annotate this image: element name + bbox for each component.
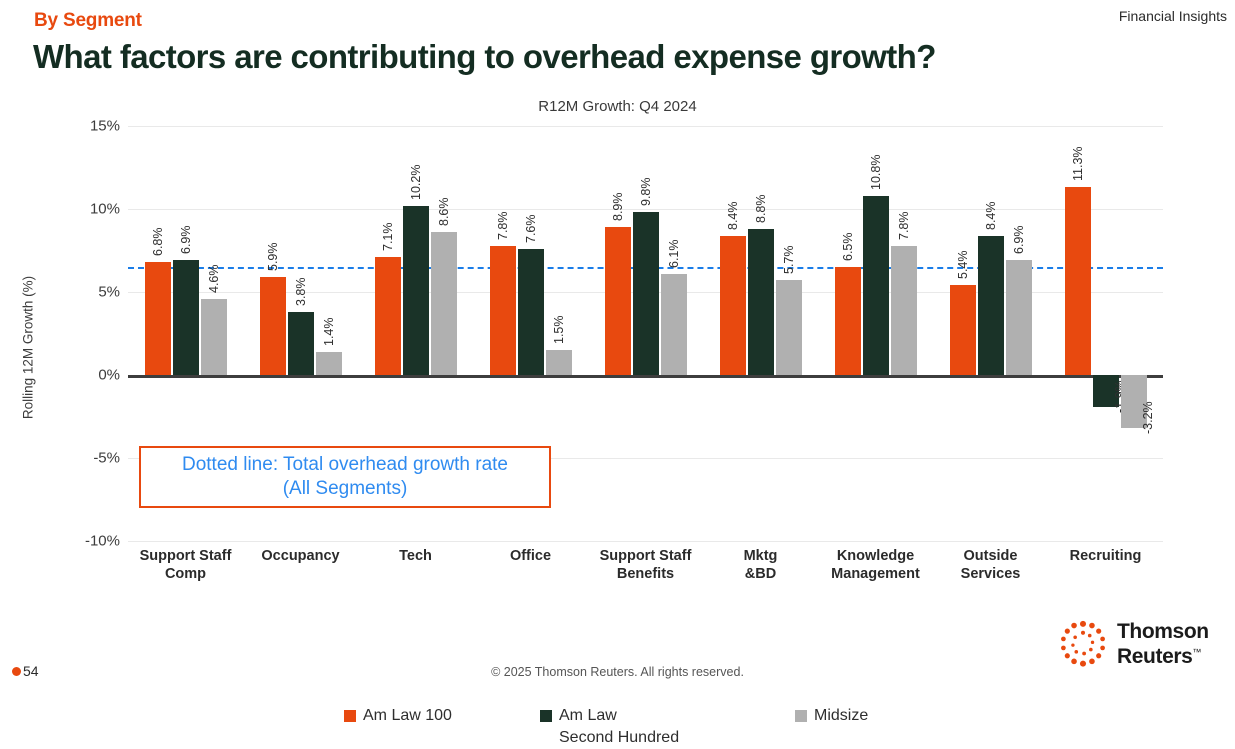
- bar[interactable]: [1006, 260, 1032, 375]
- x-category-label: KnowledgeManagement: [818, 547, 933, 583]
- copyright-text: © 2025 Thomson Reuters. All rights reser…: [0, 665, 1235, 679]
- x-category-line-1: Support Staff: [600, 548, 692, 564]
- bar-value-label: 5.4%: [956, 251, 970, 280]
- x-category-label: OutsideServices: [933, 547, 1048, 583]
- x-category-label: Support StaffComp: [128, 547, 243, 583]
- bar[interactable]: [950, 285, 976, 375]
- page-title: What factors are contributing to overhea…: [33, 38, 936, 76]
- bar-value-label: 9.8%: [639, 178, 653, 207]
- x-category-label: Tech: [358, 547, 473, 565]
- bar-value-label: 11.3%: [1071, 147, 1085, 182]
- brand-tag: Financial Insights: [1119, 8, 1227, 24]
- logo-line-2: Reuters: [1117, 645, 1192, 668]
- bar[interactable]: [661, 274, 687, 375]
- bar-value-label: 5.9%: [266, 243, 280, 272]
- bar-value-label: 6.8%: [151, 228, 165, 257]
- bar-value-label: 1.4%: [322, 317, 336, 346]
- bar-value-label: 8.6%: [437, 198, 451, 227]
- bar[interactable]: [891, 246, 917, 375]
- bar[interactable]: [835, 267, 861, 375]
- bar-value-label: 8.4%: [984, 201, 998, 230]
- bar-value-label: 10.8%: [869, 154, 883, 189]
- legend-item[interactable]: Am Law 100: [344, 705, 452, 727]
- bar-value-label: 6.9%: [179, 226, 193, 255]
- bar[interactable]: [863, 196, 889, 375]
- y-tick-label: -5%: [30, 450, 120, 467]
- thomson-reuters-wordmark: Thomson Reuters™: [1117, 621, 1209, 667]
- callout-line-1: Dotted line: Total overhead growth rate: [182, 454, 508, 475]
- bar[interactable]: [633, 212, 659, 375]
- legend-label: Am LawSecond Hundred: [559, 705, 679, 749]
- bar[interactable]: [145, 262, 171, 375]
- legend-label: Am Law 100: [363, 705, 452, 727]
- x-category-line-2: &BD: [745, 566, 776, 582]
- bar-value-label: 8.9%: [611, 193, 625, 222]
- bar-value-label: 8.4%: [726, 201, 740, 230]
- x-category-line-2: Benefits: [617, 566, 674, 582]
- bar-value-label: 7.6%: [524, 214, 538, 243]
- bar-value-label: 10.2%: [409, 164, 423, 199]
- y-tick-label: -10%: [30, 533, 120, 550]
- bar[interactable]: [748, 229, 774, 375]
- bar-group: 11.3%-1.9%-3.2%: [1048, 126, 1163, 541]
- bar-value-label: 7.8%: [496, 211, 510, 240]
- bar[interactable]: [490, 246, 516, 375]
- bar[interactable]: [978, 236, 1004, 375]
- bar-group: 8.9%9.8%6.1%: [588, 126, 703, 541]
- chart-container: R12M Growth: Q4 2024 Rolling 12M Growth …: [0, 95, 1235, 595]
- bar-group: 5.4%8.4%6.9%: [933, 126, 1048, 541]
- gridline--10%: [128, 541, 1163, 542]
- x-category-line-1: Knowledge: [837, 548, 914, 564]
- x-category-line-2: Management: [831, 566, 920, 582]
- x-category-label: Support StaffBenefits: [588, 547, 703, 583]
- x-category-label: Recruiting: [1048, 547, 1163, 565]
- bar[interactable]: [720, 236, 746, 375]
- bar[interactable]: [776, 280, 802, 375]
- x-category-label: Mktg&BD: [703, 547, 818, 583]
- x-category-label: Occupancy: [243, 547, 358, 565]
- legend-label: Midsize: [814, 705, 868, 727]
- x-category-label: Office: [473, 547, 588, 565]
- bar-value-label: 7.1%: [381, 223, 395, 252]
- bar-value-label: 6.1%: [667, 239, 681, 268]
- chart-subtitle: R12M Growth: Q4 2024: [0, 98, 1235, 115]
- thomson-reuters-logo: Thomson Reuters™: [1055, 616, 1209, 672]
- x-category-line-1: Support Staff: [140, 548, 232, 564]
- bar-value-label: 4.6%: [207, 264, 221, 293]
- x-category-line-1: Recruiting: [1070, 548, 1142, 564]
- legend-swatch-icon: [540, 710, 552, 722]
- legend-swatch-icon: [795, 710, 807, 722]
- callout-line-2: (All Segments): [283, 478, 408, 499]
- bar-value-label: 6.5%: [841, 233, 855, 262]
- bar[interactable]: [375, 257, 401, 375]
- bar[interactable]: [431, 232, 457, 375]
- bar[interactable]: [316, 352, 342, 375]
- logo-line-1: Thomson: [1117, 620, 1209, 643]
- thomson-reuters-dots-icon: [1055, 616, 1111, 672]
- bar[interactable]: [288, 312, 314, 375]
- bar-value-label: 3.8%: [294, 277, 308, 306]
- y-tick-label: 5%: [30, 284, 120, 301]
- bar[interactable]: [403, 206, 429, 375]
- bar-value-label: 7.8%: [897, 211, 911, 240]
- legend-item[interactable]: Midsize: [795, 705, 868, 727]
- reference-line-callout: Dotted line: Total overhead growth rate …: [139, 446, 551, 508]
- chart-legend: Am Law 100Am LawSecond HundredMidsize: [0, 695, 1235, 745]
- y-tick-label: 0%: [30, 367, 120, 384]
- legend-swatch-icon: [344, 710, 356, 722]
- bar[interactable]: [518, 249, 544, 375]
- bar[interactable]: [260, 277, 286, 375]
- bar[interactable]: [546, 350, 572, 375]
- bar[interactable]: [605, 227, 631, 375]
- bar-value-label: 6.9%: [1012, 226, 1026, 255]
- x-category-line-2: Comp: [165, 566, 206, 582]
- bar-value-label: 1.5%: [552, 316, 566, 345]
- bar[interactable]: [1065, 187, 1091, 375]
- bar-value-label: 8.8%: [754, 194, 768, 223]
- y-tick-label: 10%: [30, 201, 120, 218]
- slide-eyebrow: By Segment: [34, 10, 142, 32]
- bar-value-label: 5.7%: [782, 246, 796, 275]
- legend-item[interactable]: Am LawSecond Hundred: [540, 705, 679, 749]
- x-category-line-1: Tech: [399, 548, 432, 564]
- bar[interactable]: [201, 299, 227, 375]
- x-category-line-1: Occupancy: [261, 548, 339, 564]
- y-tick-label: 15%: [30, 118, 120, 135]
- x-category-line-1: Mktg: [744, 548, 778, 564]
- bar-group: 6.5%10.8%7.8%: [818, 126, 933, 541]
- x-category-line-1: Office: [510, 548, 551, 564]
- bar-value-label: -3.2%: [1141, 401, 1155, 434]
- x-category-line-1: Outside: [964, 548, 1018, 564]
- bar[interactable]: [173, 260, 199, 375]
- x-category-line-2: Services: [961, 566, 1021, 582]
- logo-tm: ™: [1192, 647, 1201, 657]
- bar-group: 8.4%8.8%5.7%: [703, 126, 818, 541]
